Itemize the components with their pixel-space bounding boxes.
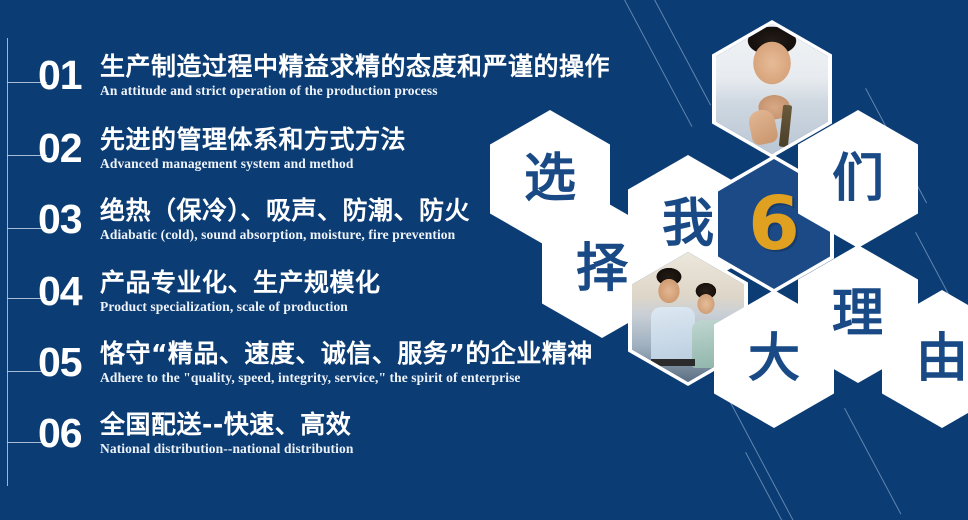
item-number: 03 bbox=[38, 196, 82, 242]
item-title-cn: 产品专业化、生产规模化 bbox=[100, 268, 381, 298]
item-number: 06 bbox=[38, 410, 82, 456]
item-title-en: National distribution--national distribu… bbox=[100, 440, 353, 457]
hex-glyph: 们 bbox=[832, 153, 884, 205]
item-title-cn: 绝热（保冷）、吸声、防潮、防火 bbox=[100, 196, 470, 226]
item-title-cn: 先进的管理体系和方式方法 bbox=[100, 125, 406, 155]
hex-glyph: 由 bbox=[916, 333, 968, 385]
item-title-en: Advanced management system and method bbox=[100, 155, 406, 172]
hex-glyph-number: 6 bbox=[748, 187, 800, 261]
item-number: 04 bbox=[38, 268, 82, 314]
item-title-cn: 全国配送--快速、高效 bbox=[100, 410, 353, 440]
hex-glyph: 我 bbox=[662, 198, 714, 250]
item-title-en: Adiabatic (cold), sound absorption, mois… bbox=[100, 226, 470, 243]
necktie bbox=[779, 104, 792, 147]
timeline-axis bbox=[7, 38, 8, 486]
person-a-belt bbox=[651, 359, 695, 366]
item-title-en: Product specialization, scale of product… bbox=[100, 298, 381, 315]
thumbs-up-hand bbox=[746, 107, 779, 146]
hex-glyph: 大 bbox=[748, 333, 800, 385]
hexagon-cluster: 选 择 我 bbox=[480, 0, 968, 520]
hex-glyph: 理 bbox=[832, 288, 884, 340]
hex-glyph: 择 bbox=[576, 243, 628, 295]
promo-banner: 01 生产制造过程中精益求精的态度和严谨的操作 An attitude and … bbox=[0, 0, 968, 520]
item-number: 01 bbox=[38, 52, 82, 98]
person-a-shirt bbox=[651, 307, 695, 365]
hex-glyph: 选 bbox=[524, 153, 576, 205]
item-number: 02 bbox=[38, 125, 82, 171]
item-number: 05 bbox=[38, 339, 82, 385]
businessman-photo bbox=[716, 24, 828, 154]
